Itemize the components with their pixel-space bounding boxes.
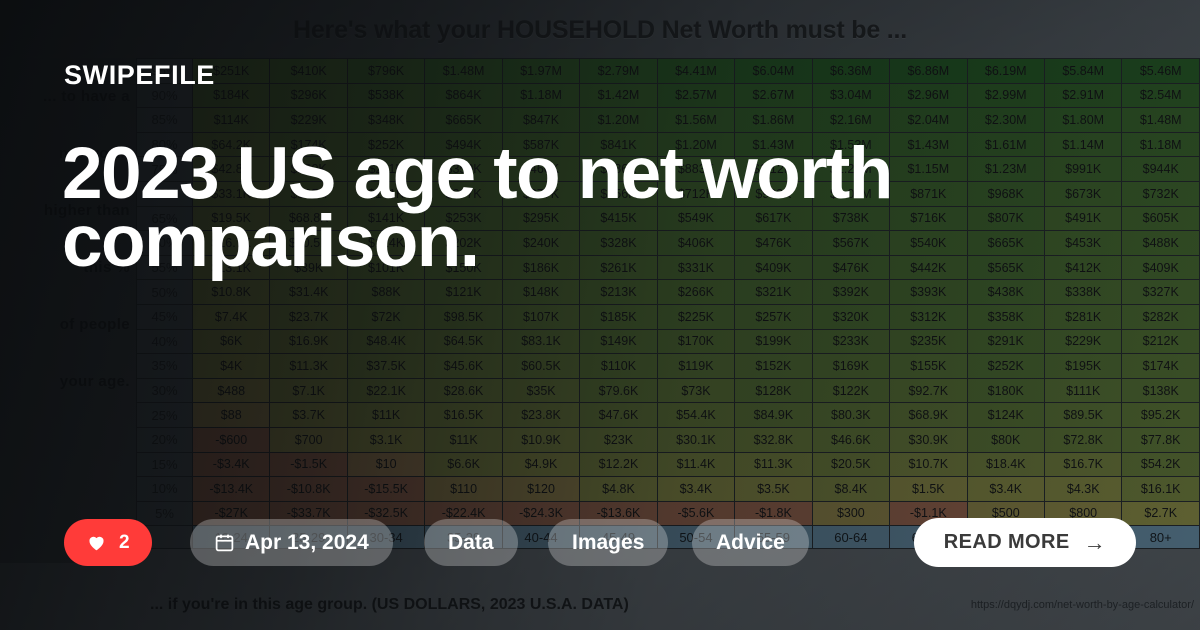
table-cell: $88K [347, 280, 424, 305]
table-cell: $170K [657, 329, 734, 354]
table-cell: $665K [425, 108, 502, 133]
table-cell: $12.2K [580, 452, 657, 477]
table-cell: $72.8K [1044, 427, 1121, 452]
table-cell: $107K [502, 304, 579, 329]
table-cell: $796K [347, 59, 424, 84]
table-cell: $92.7K [890, 378, 967, 403]
table-cell: $152K [735, 354, 812, 379]
table-cell: $3.7K [270, 403, 347, 428]
table-cell: $565K [967, 255, 1044, 280]
table-cell: $233K [812, 329, 889, 354]
table-cell: $2.7K [1122, 501, 1200, 526]
table-cell: $174K [1122, 354, 1200, 379]
table-row: 85%$114K$229K$348K$665K$847K$1.20M$1.56M… [137, 108, 1200, 133]
table-cell: $16.1K [1122, 477, 1200, 502]
table-cell: $22.1K [347, 378, 424, 403]
percentile-label: 85% [137, 108, 193, 133]
table-cell: $30.9K [890, 427, 967, 452]
percentile-label: 50% [137, 280, 193, 305]
table-cell: $98.5K [425, 304, 502, 329]
table-cell: $185K [580, 304, 657, 329]
percentile-label: 20% [137, 427, 193, 452]
table-cell: $864K [425, 83, 502, 108]
like-count: 2 [119, 532, 130, 554]
table-cell: $807K [967, 206, 1044, 231]
table-cell: $700 [270, 427, 347, 452]
table-cell: $1.5K [890, 477, 967, 502]
table-cell: $348K [347, 108, 424, 133]
date-label: Apr 13, 2024 [245, 531, 369, 555]
table-cell: $46.6K [812, 427, 889, 452]
table-cell: $149K [580, 329, 657, 354]
spreadsheet-title: Here's what your HOUSEHOLD Net Worth mus… [0, 16, 1200, 45]
table-row: 95%$251K$410K$796K$1.48M$1.97M$2.79M$4.4… [137, 59, 1200, 84]
table-cell: $252K [967, 354, 1044, 379]
table-cell: $48.4K [347, 329, 424, 354]
table-cell: -$10.8K [270, 477, 347, 502]
table-row: 10%-$13.4K-$10.8K-$15.5K$110$120$4.8K$3.… [137, 477, 1200, 502]
table-cell: $358K [967, 304, 1044, 329]
table-cell: $944K [1122, 157, 1200, 182]
table-cell: $110 [425, 477, 502, 502]
table-cell: $11.4K [657, 452, 734, 477]
table-cell: $6K [193, 329, 270, 354]
table-cell: $488K [1122, 231, 1200, 256]
table-cell: $6.04M [735, 59, 812, 84]
table-cell: $1.14M [1044, 132, 1121, 157]
table-cell: $121K [425, 280, 502, 305]
table-cell: $2.16M [812, 108, 889, 133]
tag-advice[interactable]: Advice [692, 519, 809, 566]
table-cell: $30.1K [657, 427, 734, 452]
table-cell: $119K [657, 354, 734, 379]
table-cell: $847K [502, 108, 579, 133]
table-cell: $257K [735, 304, 812, 329]
table-row: 30%$488$7.1K$22.1K$28.6K$35K$79.6K$73K$1… [137, 378, 1200, 403]
table-cell: $296K [270, 83, 347, 108]
table-cell: $23.7K [270, 304, 347, 329]
table-row: 25%$88$3.7K$11K$16.5K$23.8K$47.6K$54.4K$… [137, 403, 1200, 428]
percentile-label: 15% [137, 452, 193, 477]
read-more-button[interactable]: READ MORE → [914, 518, 1136, 567]
footer-caption: ... if you're in this age group. (US DOL… [150, 596, 629, 614]
table-cell: $64.5K [425, 329, 502, 354]
table-cell: $300 [812, 501, 889, 526]
table-cell: $5.46M [1122, 59, 1200, 84]
table-cell: $114K [193, 108, 270, 133]
table-cell: $392K [812, 280, 889, 305]
percentile-label: 5% [137, 501, 193, 526]
table-row: 35%$4K$11.3K$37.5K$45.6K$60.5K$110K$119K… [137, 354, 1200, 379]
table-cell: $128K [735, 378, 812, 403]
table-row: 15%-$3.4K-$1.5K$10$6.6K$4.9K$12.2K$11.4K… [137, 452, 1200, 477]
table-cell: -$1.5K [270, 452, 347, 477]
tag-data[interactable]: Data [424, 519, 518, 566]
table-cell: $11K [347, 403, 424, 428]
table-cell: $199K [735, 329, 812, 354]
table-cell: $321K [735, 280, 812, 305]
table-cell: $665K [967, 231, 1044, 256]
table-cell: $16.5K [425, 403, 502, 428]
age-group-label: 60-64 [812, 526, 889, 549]
table-cell: $605K [1122, 206, 1200, 231]
table-cell: $110K [580, 354, 657, 379]
table-cell: $235K [890, 329, 967, 354]
table-cell: $80.3K [812, 403, 889, 428]
table-cell: $169K [812, 354, 889, 379]
table-cell: $327K [1122, 280, 1200, 305]
table-cell: $10.7K [890, 452, 967, 477]
table-cell: $54.2K [1122, 452, 1200, 477]
table-cell: $138K [1122, 378, 1200, 403]
table-cell: $5.84M [1044, 59, 1121, 84]
table-cell: $2.54M [1122, 83, 1200, 108]
table-cell: $72K [347, 304, 424, 329]
page-title: 2023 US age to net worth comparison. [62, 140, 892, 276]
table-cell: $4.9K [502, 452, 579, 477]
arrow-right-icon: → [1084, 530, 1106, 556]
table-cell: $453K [1044, 231, 1121, 256]
table-cell: $732K [1122, 181, 1200, 206]
table-cell: $2.99M [967, 83, 1044, 108]
table-cell: $6.19M [967, 59, 1044, 84]
table-cell: $20.5K [812, 452, 889, 477]
table-cell: $229K [270, 108, 347, 133]
table-cell: $412K [1044, 255, 1121, 280]
table-cell: $80K [967, 427, 1044, 452]
table-cell: $68.9K [890, 403, 967, 428]
date-badge: Apr 13, 2024 [190, 519, 393, 566]
table-cell: $84.9K [735, 403, 812, 428]
table-cell: $1.18M [502, 83, 579, 108]
table-cell: -$3.4K [193, 452, 270, 477]
table-cell: $79.6K [580, 378, 657, 403]
table-cell: $1.43M [890, 132, 967, 157]
table-cell: $1.48M [425, 59, 502, 84]
table-cell: $1.80M [1044, 108, 1121, 133]
table-cell: $95.2K [1122, 403, 1200, 428]
table-cell: $2.91M [1044, 83, 1121, 108]
table-cell: $11.3K [270, 354, 347, 379]
table-cell: $10 [347, 452, 424, 477]
table-row: 90%$184K$296K$538K$864K$1.18M$1.42M$2.57… [137, 83, 1200, 108]
table-cell: $122K [812, 378, 889, 403]
source-url: https://dqydj.com/net-worth-by-age-calcu… [971, 599, 1194, 611]
table-cell: $225K [657, 304, 734, 329]
table-cell: $312K [890, 304, 967, 329]
table-cell: $291K [967, 329, 1044, 354]
table-cell: $281K [1044, 304, 1121, 329]
table-cell: $31.4K [270, 280, 347, 305]
table-cell: $266K [657, 280, 734, 305]
table-cell: $7.4K [193, 304, 270, 329]
table-cell: $438K [967, 280, 1044, 305]
table-cell: $111K [1044, 378, 1121, 403]
table-cell: $213K [580, 280, 657, 305]
table-cell: $3.5K [735, 477, 812, 502]
side-sentence-line: of people [0, 310, 136, 367]
table-cell: $3.4K [967, 477, 1044, 502]
table-cell: $120 [502, 477, 579, 502]
table-cell: $8.4K [812, 477, 889, 502]
table-cell: $338K [1044, 280, 1121, 305]
table-cell: $35K [502, 378, 579, 403]
percentile-label: 35% [137, 354, 193, 379]
table-cell: $4K [193, 354, 270, 379]
table-cell: $3.04M [812, 83, 889, 108]
table-cell: $88 [193, 403, 270, 428]
calendar-icon [214, 532, 235, 553]
table-cell: $2.79M [580, 59, 657, 84]
table-cell: $16.9K [270, 329, 347, 354]
table-cell: $60.5K [502, 354, 579, 379]
table-cell: $1.61M [967, 132, 1044, 157]
percentile-label: 45% [137, 304, 193, 329]
table-cell: $488 [193, 378, 270, 403]
table-cell: $4.41M [657, 59, 734, 84]
table-cell: $2.57M [657, 83, 734, 108]
table-cell: $23.8K [502, 403, 579, 428]
brand-logo[interactable]: SWIPEFILE [64, 60, 215, 91]
table-cell: $77.8K [1122, 427, 1200, 452]
table-cell: $1.56M [657, 108, 734, 133]
table-cell: $2.30M [967, 108, 1044, 133]
percentile-label: 40% [137, 329, 193, 354]
net-worth-percentile-table: 95%$251K$410K$796K$1.48M$1.97M$2.79M$4.4… [136, 58, 1200, 549]
heart-icon [86, 532, 107, 553]
table-cell: $54.4K [657, 403, 734, 428]
table-cell: $1.97M [502, 59, 579, 84]
table-row: 50%$10.8K$31.4K$88K$121K$148K$213K$266K$… [137, 280, 1200, 305]
table-cell: $16.7K [1044, 452, 1121, 477]
table-cell: $409K [1122, 255, 1200, 280]
read-more-label: READ MORE [944, 531, 1070, 554]
table-cell: $195K [1044, 354, 1121, 379]
table-cell: $716K [890, 206, 967, 231]
side-sentence-line: your age. [0, 367, 136, 424]
table-cell: $3.4K [657, 477, 734, 502]
table-cell: $73K [657, 378, 734, 403]
table-cell: $18.4K [967, 452, 1044, 477]
like-badge[interactable]: 2 [64, 519, 152, 566]
table-cell: $45.6K [425, 354, 502, 379]
table-cell: -$15.5K [347, 477, 424, 502]
table-cell: $538K [347, 83, 424, 108]
table-cell: $6.86M [890, 59, 967, 84]
table-cell: $393K [890, 280, 967, 305]
table-cell: $32.8K [735, 427, 812, 452]
table-cell: $1.42M [580, 83, 657, 108]
table-cell: $180K [967, 378, 1044, 403]
table-cell: $410K [270, 59, 347, 84]
table-cell: $7.1K [270, 378, 347, 403]
table-cell: $1.20M [580, 108, 657, 133]
table-cell: $871K [890, 181, 967, 206]
tag-images[interactable]: Images [548, 519, 668, 566]
table-cell: $491K [1044, 206, 1121, 231]
table-cell: $320K [812, 304, 889, 329]
table-cell: $968K [967, 181, 1044, 206]
table-cell: $37.5K [347, 354, 424, 379]
table-cell: $89.5K [1044, 403, 1121, 428]
table-cell: $3.1K [347, 427, 424, 452]
table-cell: $47.6K [580, 403, 657, 428]
table-cell: $673K [1044, 181, 1121, 206]
table-cell: $28.6K [425, 378, 502, 403]
table-cell: $4.8K [580, 477, 657, 502]
table-cell: $4.3K [1044, 477, 1121, 502]
table-cell: $10.8K [193, 280, 270, 305]
table-row: 45%$7.4K$23.7K$72K$98.5K$107K$185K$225K$… [137, 304, 1200, 329]
table-cell: $2.96M [890, 83, 967, 108]
table-cell: -$600 [193, 427, 270, 452]
table-cell: $2.04M [890, 108, 967, 133]
table-cell: $1.15M [890, 157, 967, 182]
table-cell: $10.9K [502, 427, 579, 452]
table-cell: $442K [890, 255, 967, 280]
table-cell: $6.36M [812, 59, 889, 84]
table-row: 40%$6K$16.9K$48.4K$64.5K$83.1K$149K$170K… [137, 329, 1200, 354]
table-cell: $1.18M [1122, 132, 1200, 157]
table-cell: $11.3K [735, 452, 812, 477]
table-cell: $124K [967, 403, 1044, 428]
table-cell: $83.1K [502, 329, 579, 354]
table-row: 20%-$600$700$3.1K$11K$10.9K$23K$30.1K$32… [137, 427, 1200, 452]
percentile-label: 30% [137, 378, 193, 403]
percentile-label: 10% [137, 477, 193, 502]
percentile-label: 25% [137, 403, 193, 428]
table-cell: $991K [1044, 157, 1121, 182]
table-cell: $148K [502, 280, 579, 305]
table-cell: $229K [1044, 329, 1121, 354]
table-cell: $155K [890, 354, 967, 379]
table-cell: $6.6K [425, 452, 502, 477]
table-cell: $1.48M [1122, 108, 1200, 133]
table-cell: $23K [580, 427, 657, 452]
table-cell: $282K [1122, 304, 1200, 329]
table-cell: $11K [425, 427, 502, 452]
table-cell: -$13.4K [193, 477, 270, 502]
table-cell: $212K [1122, 329, 1200, 354]
table-cell: $2.67M [735, 83, 812, 108]
table-cell: $1.86M [735, 108, 812, 133]
table-cell: $1.23M [967, 157, 1044, 182]
table-cell: $540K [890, 231, 967, 256]
